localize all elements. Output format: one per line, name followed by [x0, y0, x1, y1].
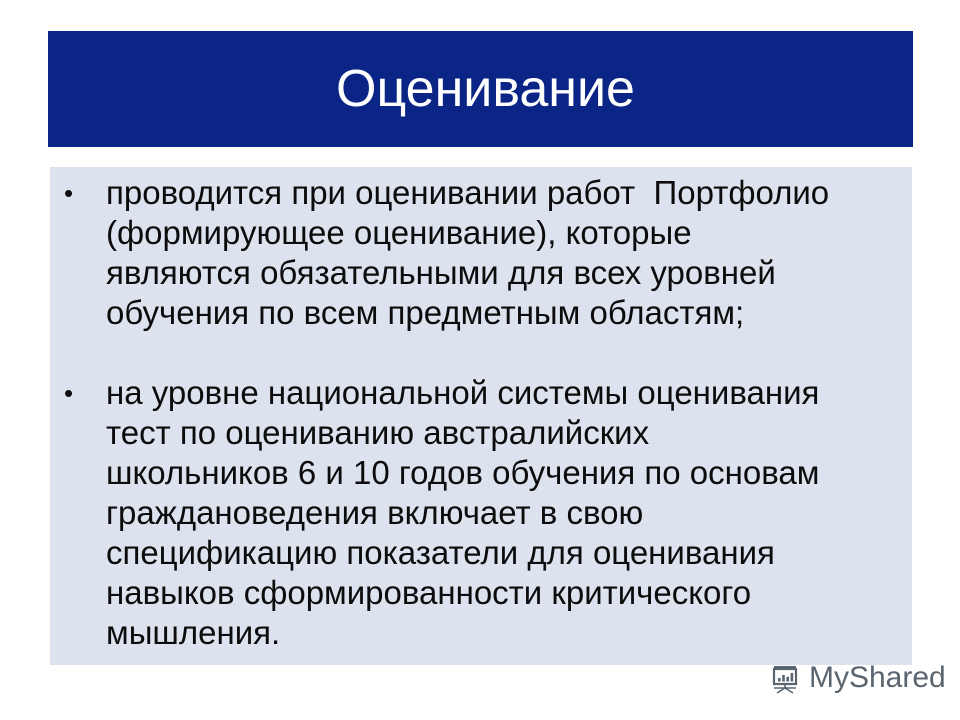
presentation-board-icon — [768, 661, 802, 695]
bullet-spacer — [58, 333, 904, 373]
bullet-line: мышления. — [106, 613, 904, 653]
bullet-line: тест по оцениванию австралийских — [106, 413, 904, 453]
bullet-line: являются обязательными для всех уровней — [106, 253, 904, 293]
bullet-line: обучения по всем предметным областям; — [106, 293, 904, 333]
body-content-panel: • проводится при оценивании работ Портфо… — [50, 167, 912, 665]
slide-canvas: Оценивание • проводится при оценивании р… — [0, 0, 960, 720]
bullet-line: (формирующее оценивание), которые — [106, 213, 904, 253]
watermark-label: MyShared — [809, 663, 946, 693]
list-item: • проводится при оценивании работ Портфо… — [58, 173, 904, 333]
bullet-line: на уровне национальной системы оценивани… — [106, 373, 904, 413]
bullet-dot-icon: • — [64, 173, 84, 213]
bullet-line: спецификацию показатели для оценивания — [106, 533, 904, 573]
myshared-watermark: MyShared — [768, 655, 946, 701]
bullet-line: навыков сформированности критического — [106, 573, 904, 613]
list-item: • на уровне национальной системы оценива… — [58, 373, 904, 653]
bullet-dot-icon: • — [64, 373, 84, 413]
bullet-line: проводится при оценивании работ Портфоли… — [106, 173, 904, 213]
bullet-list: • проводится при оценивании работ Портфо… — [58, 173, 904, 653]
page-title: Оценивание — [326, 62, 635, 117]
bullet-line: школьников 6 и 10 годов обучения по осно… — [106, 453, 904, 493]
bullet-line: граждановедения включает в свою — [106, 493, 904, 533]
title-banner: Оценивание — [48, 31, 913, 147]
